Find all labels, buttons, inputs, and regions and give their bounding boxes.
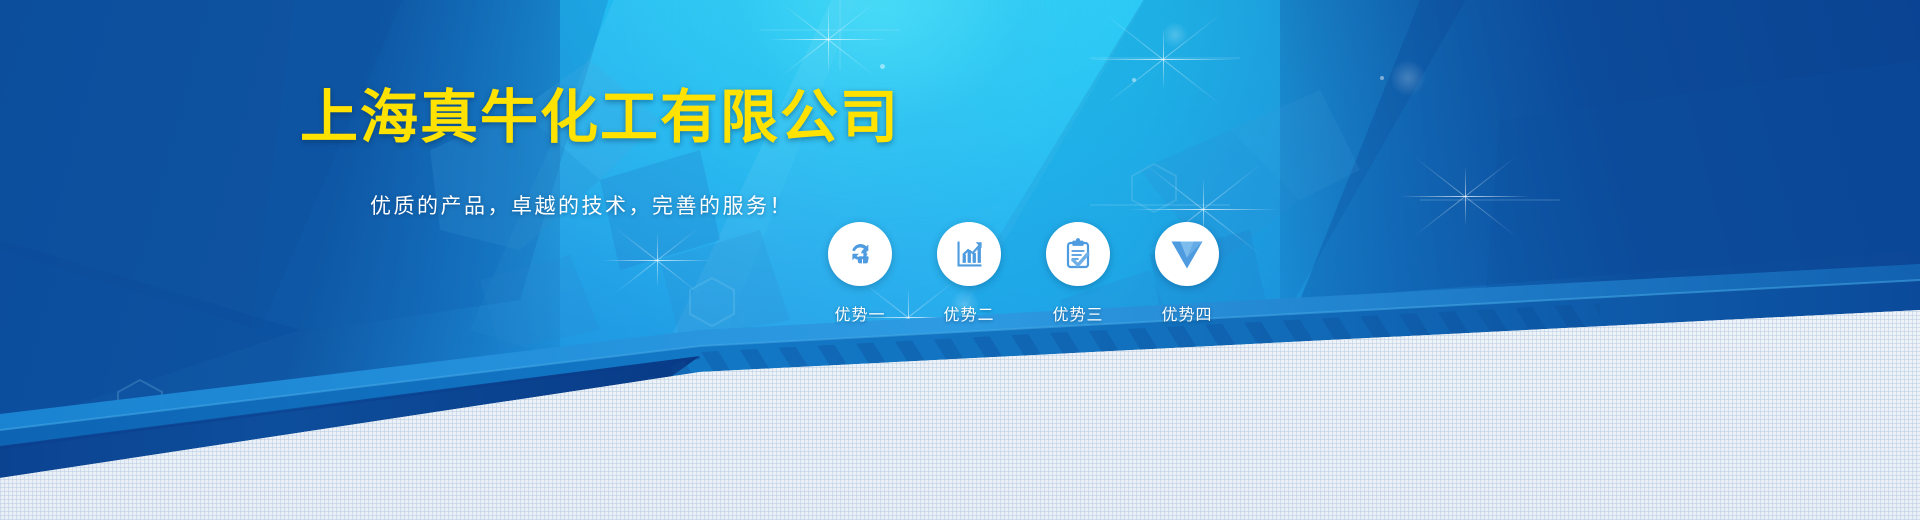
hero-banner: 上海真牛化工有限公司 优质的产品，卓越的技术，完善的服务！ <box>0 0 1920 520</box>
feature-item-3[interactable]: 优势三 <box>1046 222 1110 325</box>
feature-item-2[interactable]: 优势二 <box>937 222 1001 325</box>
feature-badge-1[interactable] <box>828 222 892 286</box>
feature-item-1[interactable]: 优势一 <box>828 222 892 325</box>
feature-label-3: 优势三 <box>1052 301 1103 325</box>
feature-label-1: 优势一 <box>834 301 885 325</box>
company-title: 上海真牛化工有限公司 <box>300 88 900 146</box>
feature-badge-4[interactable] <box>1155 222 1219 286</box>
feature-label-2: 优势二 <box>943 301 994 325</box>
feature-item-4[interactable]: 优势四 <box>1155 222 1219 325</box>
feature-badge-2[interactable] <box>937 222 1001 286</box>
company-slogan: 优质的产品，卓越的技术，完善的服务！ <box>370 196 793 217</box>
feature-badge-list: 优势一 <box>828 222 1219 325</box>
clipboard-check-icon <box>1059 235 1097 273</box>
bar-chart-growth-icon <box>950 235 988 273</box>
feature-label-4: 优势四 <box>1161 301 1212 325</box>
v-chevron-icon <box>1167 234 1207 274</box>
refresh-thumbsup-icon <box>841 235 879 273</box>
feature-badge-3[interactable] <box>1046 222 1110 286</box>
